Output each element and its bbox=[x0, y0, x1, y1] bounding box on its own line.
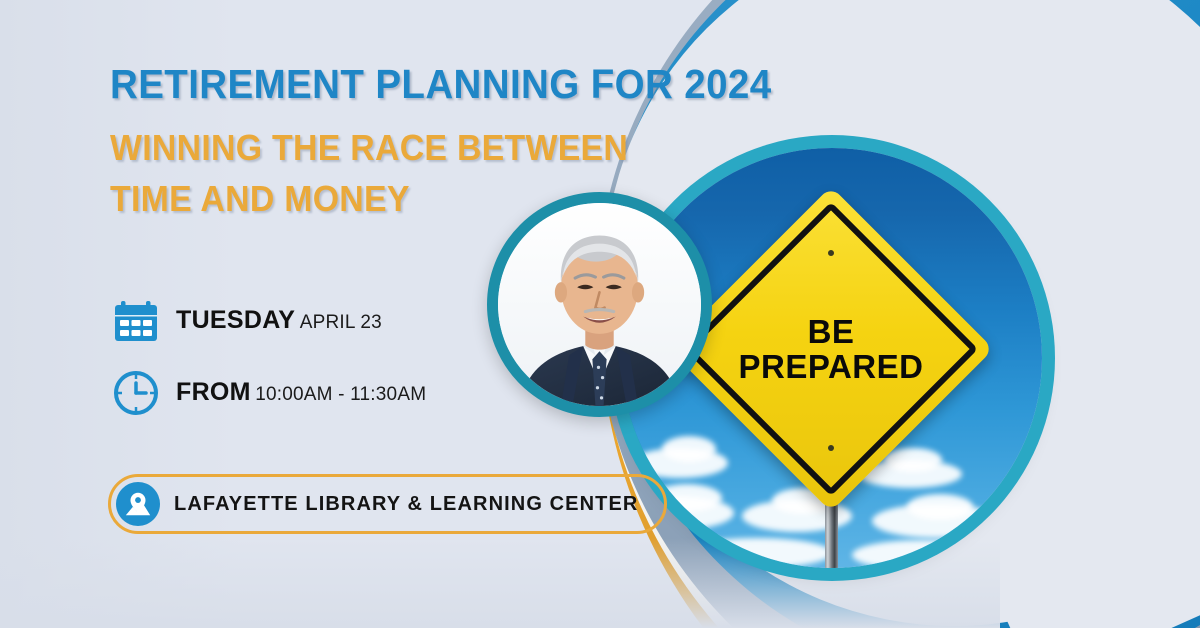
clock-icon-glyph bbox=[113, 370, 159, 416]
event-flyer: BE PREPARED bbox=[0, 0, 1200, 628]
cloud bbox=[662, 436, 716, 462]
cloud bbox=[907, 494, 973, 520]
speaker-headshot-illustration bbox=[498, 203, 701, 406]
headline-block: RETIREMENT PLANNING FOR 2024 WINNING THE… bbox=[110, 62, 750, 224]
speaker-portrait bbox=[487, 192, 712, 417]
detail-time-range: 10:00AM - 11:30AM bbox=[255, 384, 426, 405]
cloud bbox=[884, 448, 942, 472]
map-pin-icon-glyph bbox=[123, 489, 153, 519]
detail-text-date: TUESDAY APRIL 23 bbox=[176, 307, 382, 336]
cloud bbox=[852, 540, 992, 568]
sign-bolt-bottom bbox=[828, 445, 834, 451]
clock-icon bbox=[112, 369, 160, 417]
venue-badge[interactable]: LAFAYETTE LIBRARY & LEARNING CENTER bbox=[108, 474, 667, 534]
detail-text-time: FROM 10:00AM - 11:30AM bbox=[176, 379, 426, 408]
detail-row-time: FROM 10:00AM - 11:30AM bbox=[112, 369, 426, 417]
calendar-icon-glyph bbox=[113, 299, 159, 343]
event-details: TUESDAY APRIL 23 FROM 10:00AM - 11:30AM bbox=[112, 297, 426, 441]
sign-bolt-top bbox=[828, 250, 834, 256]
map-pin-icon bbox=[116, 482, 160, 526]
subtitle-line-2: TIME AND MONEY bbox=[110, 173, 712, 224]
detail-from-label: FROM bbox=[176, 378, 251, 406]
detail-date: APRIL 23 bbox=[300, 312, 382, 333]
detail-day: TUESDAY bbox=[176, 306, 295, 334]
detail-row-date: TUESDAY APRIL 23 bbox=[112, 297, 426, 345]
cloud bbox=[682, 538, 832, 568]
venue-name: LAFAYETTE LIBRARY & LEARNING CENTER bbox=[174, 493, 638, 516]
page-title: RETIREMENT PLANNING FOR 2024 bbox=[110, 62, 712, 106]
subtitle-line-1: WINNING THE RACE BETWEEN bbox=[110, 122, 712, 173]
calendar-icon bbox=[112, 297, 160, 345]
page-subtitle: WINNING THE RACE BETWEEN TIME AND MONEY bbox=[110, 122, 712, 224]
